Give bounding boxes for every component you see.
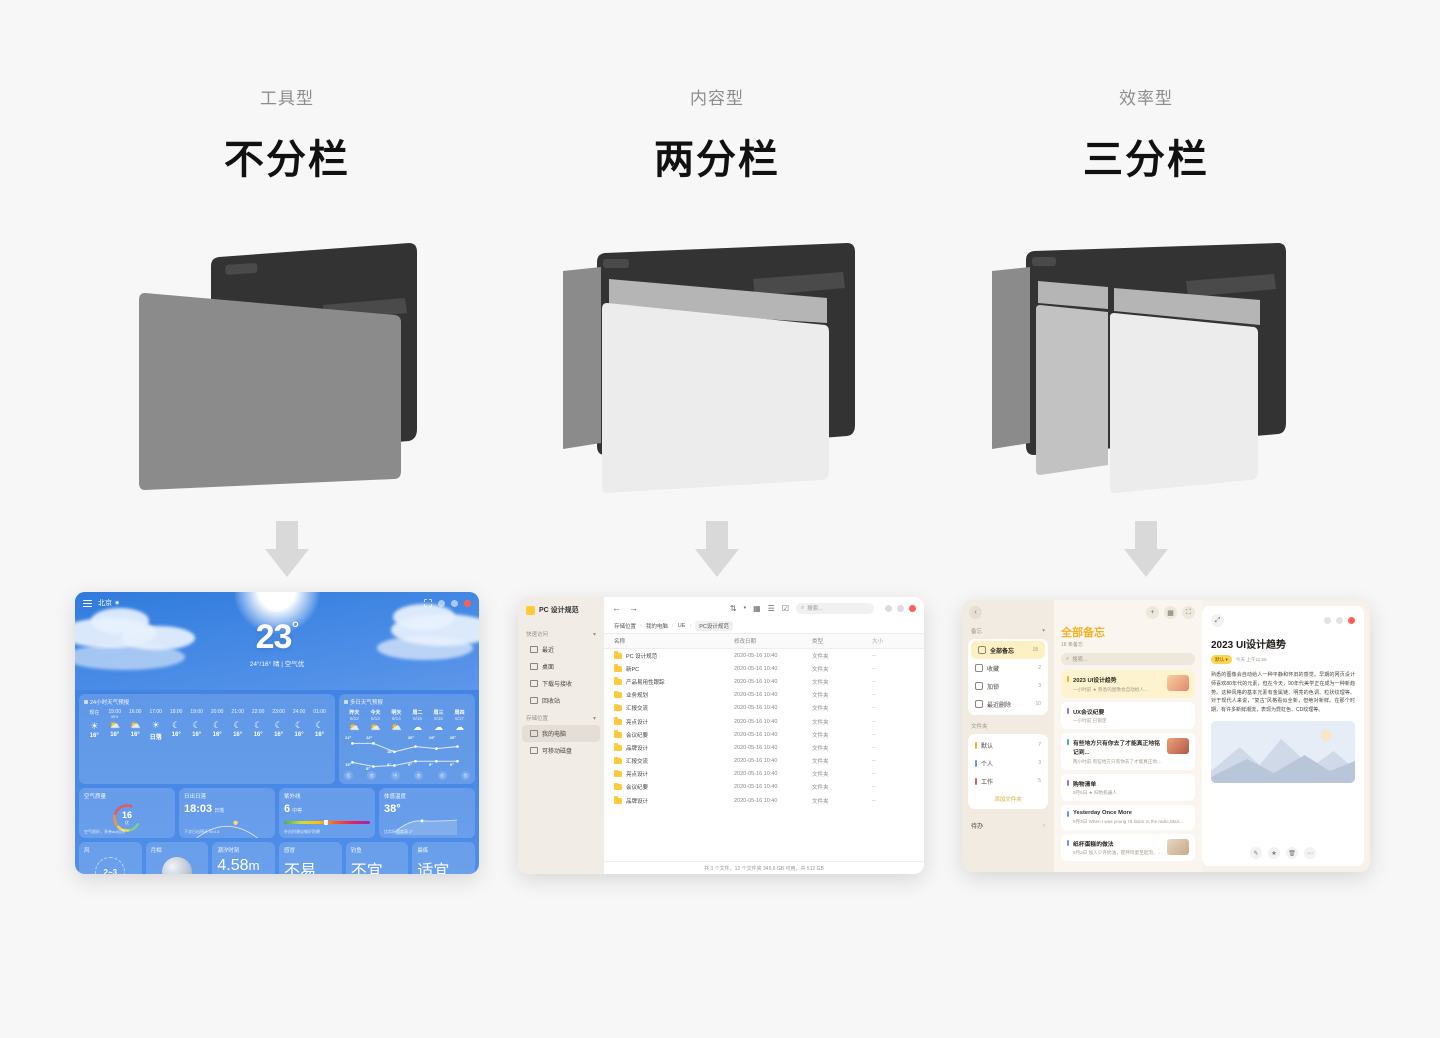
weather-card-moon[interactable]: 月相	[146, 842, 209, 874]
column-two-pane: 内容型 两分栏 PC 设计规范 快速访问▾最近桌面下载与接收回收站存储位置▾我的…	[477, 0, 957, 1038]
refresh-icon[interactable]	[1324, 617, 1331, 624]
file-toolbar-actions[interactable]: ⇅ ▾ ▦ ☰ ☑ ⌕ 搜索...	[730, 603, 916, 614]
daily-item: 今天6/13⛅	[365, 709, 386, 733]
file-status-bar: 共 3 个文件，12 个文件夹 345.6 GB 可用，共 512 GB	[604, 861, 924, 874]
cell-name: 品牌设计	[614, 797, 734, 805]
day-low: 8°	[387, 762, 391, 767]
sidebar-item-可移动磁盘[interactable]: 可移动磁盘	[522, 742, 600, 759]
metric-title: 紫外线	[284, 792, 370, 800]
hour-temp: 16°	[186, 732, 206, 738]
note-item-title: 有些地方只有你去了才能真正地铭记到...	[1073, 738, 1163, 756]
daily-item: 昨天6/12⛅	[344, 709, 365, 733]
day-date: 6/17	[449, 716, 470, 721]
table-row[interactable]: 业务规划2020-05-16 10:40文件夹--	[604, 689, 924, 702]
weather-card-tide[interactable]: 潮汐时刻4.58m	[212, 842, 275, 874]
chevron-down-icon[interactable]: ▾	[593, 715, 596, 722]
breadcrumb-item[interactable]: 我的电脑	[646, 622, 668, 630]
daily-aqi-row: 优良中良优优	[344, 771, 470, 780]
aqi-value: 16	[122, 810, 132, 820]
sidebar-item-label: 全部备忘	[990, 646, 1014, 655]
hour-precip	[309, 715, 329, 719]
cell-date: 2020-05-16 10:40	[734, 758, 812, 764]
list-view-icon[interactable]: ☰	[768, 604, 775, 613]
cell-type: 文件夹	[812, 678, 872, 686]
daily-forecast-card[interactable]: 多日天气预报 昨天6/12⛅今天6/13⛅明天6/14⛅周二6/15☁周三6/1…	[339, 694, 475, 784]
hour-temp: 16°	[84, 733, 104, 739]
file-sidebar-groups: 快速访问▾最近桌面下载与接收回收站存储位置▾我的电脑可移动磁盘	[518, 625, 604, 759]
notes-list-title: 全部备忘	[1061, 624, 1195, 640]
day-aqi: 优	[461, 771, 470, 780]
cell-name: 会议纪要	[614, 783, 734, 791]
column-header-type[interactable]: 类型	[812, 637, 872, 645]
weather-app-window[interactable]: 北京 ◉ 23° 24°/16° 晴 | 空气优 24小时天气预报	[75, 592, 479, 874]
cell-date: 2020-05-16 10:40	[734, 745, 812, 751]
sidebar-item-label: 最近删除	[987, 700, 1011, 709]
breadcrumb-item[interactable]: PC设计规范	[695, 621, 733, 631]
day-name: 周二	[407, 709, 428, 716]
sidebar-group[interactable]: 存储位置▾	[518, 709, 604, 725]
arrow-down-3	[906, 521, 1386, 591]
download-icon	[530, 680, 538, 687]
card-title: 风	[84, 846, 137, 854]
notes-folders-title: 文件夹	[962, 722, 1054, 734]
notes-list-pane[interactable]: + ▦ ⛶ 全部备忘 18 条备忘 ⌕ 搜索... 2023 UI设计趋势一小时…	[1054, 600, 1202, 872]
folder-icon	[614, 679, 622, 685]
day-high: 22°	[345, 735, 351, 740]
table-row[interactable]: 汇报交流2020-05-16 10:40文件夹--	[604, 755, 924, 768]
hour-temp: 16°	[309, 732, 329, 738]
weather-icon: ☁	[407, 721, 428, 733]
note-detail-pane[interactable]: ⤢ 2023 UI设计趋势 默认 ▾ 今天 上午11:56 熟悉的图像会自动给人…	[1202, 606, 1364, 866]
folder-item-个人[interactable]: 个人3	[968, 754, 1048, 772]
chevron-down-icon[interactable]: ▾	[744, 605, 747, 611]
note-item-meta: 9月3日 When I was young I'd listen to the …	[1073, 819, 1189, 825]
weather-titlebar[interactable]: 北京 ◉	[75, 592, 479, 614]
sidebar-item-下载与接收[interactable]: 下载与接收	[522, 675, 600, 692]
list-item[interactable]: 2023 UI设计趋势一小时前 ★ 熟悉的图像会自动给人...	[1061, 670, 1195, 698]
hour-precip: 65%	[104, 715, 124, 719]
folder-icon	[614, 653, 622, 659]
metric-title: 体感温度	[384, 792, 470, 800]
note-image[interactable]	[1211, 721, 1355, 783]
moon-phase-icon	[162, 857, 192, 874]
sidebar-item-全部备忘[interactable]: 全部备忘18	[971, 641, 1045, 659]
chevron-down-icon[interactable]: ▾	[1042, 628, 1045, 634]
grid-view-icon[interactable]: ▦	[1164, 606, 1177, 619]
weather-card-advise[interactable]: 感冒不易	[279, 842, 342, 874]
calendar-icon	[344, 700, 348, 704]
daily-item: 周四6/17☁	[449, 709, 470, 733]
day-low: 15°	[345, 762, 351, 767]
list-item[interactable]: Yesterday Once More9月3日 When I was young…	[1061, 805, 1195, 830]
window-controls[interactable]	[424, 599, 471, 607]
note-toolbar[interactable]: ✎ ★ 🗑 ⋯	[1202, 847, 1364, 859]
weather-city[interactable]: 北京 ◉	[98, 598, 119, 608]
file-table-body[interactable]: PC 设计规范2020-05-16 10:40文件夹--新PC2020-05-1…	[604, 649, 924, 861]
day-name: 昨天	[344, 709, 365, 716]
cell-date: 2020-05-16 10:40	[734, 679, 812, 685]
sidebar-item-label: 回收站	[542, 696, 560, 705]
cell-type: 文件夹	[812, 665, 872, 673]
search-placeholder: 搜索...	[807, 604, 823, 612]
more-icon[interactable]: ⋯	[1304, 847, 1316, 859]
item-count: 7	[1038, 742, 1041, 748]
notes-app-window[interactable]: ‹ 备忘 ▾ 全部备忘18收藏2加锁3最近删除10 文件夹 默认7个人3工作5 …	[962, 600, 1370, 872]
folder-icon	[614, 771, 622, 777]
table-row[interactable]: 会议纪要2020-05-16 10:40文件夹--	[604, 728, 924, 741]
notes-list-actions[interactable]: + ▦ ⛶	[1061, 606, 1195, 619]
iso-two-svg	[557, 243, 877, 503]
cell-date: 2020-05-16 10:40	[734, 798, 812, 804]
weather-card-advise[interactable]: 钓鱼不宜	[346, 842, 409, 874]
item-count: 3	[1038, 760, 1041, 766]
wind-compass: 2~3	[95, 857, 125, 874]
cell-date: 2020-05-16 10:40	[734, 784, 812, 790]
day-aqi: 良	[414, 771, 423, 780]
arrow-down-1	[47, 521, 527, 591]
list-item[interactable]: 购物清单9月5日 ★ 扫地机器人	[1061, 774, 1195, 802]
sidebar-item-桌面[interactable]: 桌面	[522, 658, 600, 675]
day-low: 9°	[450, 762, 454, 767]
forward-icon[interactable]: →	[629, 603, 638, 613]
weather-row-metrics: 空气质量 16 优 空气很好，多亲им自然	[79, 788, 475, 838]
note-category-icon	[978, 646, 986, 654]
weather-icon: ☀	[84, 720, 104, 733]
notes-category-list: 全部备忘18收藏2加锁3最近删除10	[968, 641, 1048, 713]
weather-card-advise[interactable]: 晨练适宜	[412, 842, 475, 874]
daily-list: 昨天6/12⛅今天6/13⛅明天6/14⛅周二6/15☁周三6/16☁周四6/1…	[344, 709, 470, 733]
note-color-bar	[1067, 708, 1069, 714]
column-headline-3: 三分栏	[906, 127, 1386, 185]
chevron-right-icon: ›	[1043, 823, 1045, 829]
hourly-item: 现在 ☀16°	[84, 709, 104, 741]
cell-date: 2020-05-16 10:40	[734, 653, 812, 659]
star-icon[interactable]: ★	[1268, 847, 1280, 859]
back-icon[interactable]: ‹	[969, 606, 982, 619]
item-count: 3	[1038, 683, 1041, 689]
note-category-icon	[975, 682, 983, 690]
folder-icon	[614, 732, 622, 738]
back-icon[interactable]: ←	[612, 603, 621, 613]
column-header-name[interactable]: 名称	[614, 637, 734, 645]
notes-folder-card[interactable]: 默认7个人3工作5 添加文件夹	[968, 734, 1048, 809]
metric-card-air-quality[interactable]: 空气质量 16 优 空气很好，多亲им自然	[79, 788, 175, 838]
day-high: 18°	[387, 749, 393, 754]
day-date: 6/15	[407, 716, 428, 721]
cell-name: 新PC	[614, 665, 734, 673]
weather-row-bottom: 风2~3月相潮汐时刻4.58m感冒不易钓鱼不宜晨练适宜	[79, 842, 475, 874]
hourly-item: 23:00 ☾16°	[268, 709, 288, 741]
note-item-meta: 9月3日 加入少许奶油，搅拌鸡蛋至起泡，打...	[1073, 850, 1163, 856]
iso-single-svg	[127, 243, 447, 503]
day-low: 9°	[429, 762, 433, 767]
close-icon[interactable]	[1348, 617, 1355, 624]
day-aqi: 良	[367, 771, 376, 780]
sort-icon[interactable]: ⇅	[730, 604, 737, 613]
sidebar-item-最近[interactable]: 最近	[522, 641, 600, 658]
sidebar-item-回收站[interactable]: 回收站	[522, 692, 600, 709]
note-item-meta: 一小时前 ★ 熟悉的图像会自动给人...	[1073, 687, 1163, 693]
sidebar-item-收藏[interactable]: 收藏2	[968, 659, 1048, 677]
hourly-item: 21:00 ☾16°	[227, 709, 247, 741]
temperature-trend-chart: 22°15°22°8°18°8°20°9°19°9°20°9°	[344, 735, 470, 769]
cell-date: 2020-05-16 10:40	[734, 692, 812, 698]
card-title: 月相	[151, 846, 204, 854]
item-count: 5	[1038, 778, 1041, 784]
collapse-icon[interactable]: ⤢	[1211, 614, 1224, 627]
hourly-card-title: 24小时天气预报	[84, 698, 330, 706]
hour-label: 现在	[84, 709, 104, 716]
feels-like-value: 38°	[384, 803, 470, 815]
list-item[interactable]: 有些地方只有你去了才能真正地铭记到...两小时前 有些地方只有你去了才能真正地铭…	[1061, 733, 1195, 770]
search-icon: ⌕	[801, 605, 804, 612]
column-single-pane: 工具型 不分栏 北京 ◉	[47, 0, 527, 1038]
table-row[interactable]: PC 设计规范2020-05-16 10:40文件夹--	[604, 649, 924, 662]
note-item-title: UX会议纪要	[1073, 707, 1189, 716]
minimize-icon[interactable]	[897, 605, 904, 612]
hour-temp: 16°	[104, 732, 124, 738]
metric-foot: 空气很好，多亲им自然	[84, 829, 125, 835]
breadcrumb-separator: ›	[689, 623, 691, 629]
card-title: 晨练	[417, 846, 470, 854]
weather-icon: ☾	[248, 719, 268, 732]
day-date: 6/12	[344, 716, 365, 721]
minimize-icon[interactable]	[451, 600, 458, 607]
hour-temp: 日落	[145, 732, 165, 741]
cell-name: 亮点设计	[614, 770, 734, 778]
hourly-item: 16:00 ⛅16°	[125, 709, 145, 741]
hour-temp: 16°	[166, 732, 186, 738]
daily-card-title: 多日天气预报	[344, 698, 470, 706]
weather-icon: ⛅	[344, 721, 365, 733]
advice-value: 不宜	[351, 857, 404, 874]
breadcrumb[interactable]: 存储位置›我的电脑›UE›PC设计规范	[604, 619, 924, 633]
sidebar-group[interactable]: 快速访问▾	[518, 625, 604, 641]
note-color-bar	[1067, 676, 1069, 682]
list-item[interactable]: UX会议纪要一小时前 已锁定	[1061, 702, 1195, 730]
folder-icon	[614, 798, 622, 804]
cell-type: 文件夹	[812, 704, 872, 712]
weather-icon: ☾	[309, 719, 329, 732]
file-search-box[interactable]: ⌕ 搜索...	[796, 603, 874, 614]
cell-name: 会议纪要	[614, 731, 734, 739]
item-count: 10	[1035, 701, 1041, 707]
expand-icon[interactable]: ⛶	[1182, 606, 1195, 619]
table-row[interactable]: 会议纪要2020-05-16 10:40文件夹--	[604, 781, 924, 794]
weather-icon: ⛅	[386, 721, 407, 733]
card-title: 钓鱼	[351, 846, 404, 854]
note-item-meta: 9月5日 ★ 扫地机器人	[1073, 790, 1189, 796]
sidebar-item-label: 加锁	[987, 682, 999, 691]
note-window-controls[interactable]	[1324, 617, 1355, 624]
note-timestamp: 今天 上午11:56	[1236, 657, 1267, 663]
metric-card-feels-like[interactable]: 体感温度 38° 比实际温度高 2°	[379, 788, 475, 838]
weather-icon: ☾	[268, 719, 288, 732]
daily-item: 周三6/16☁	[428, 709, 449, 733]
day-high: 20°	[408, 735, 414, 740]
folder-icon	[614, 705, 622, 711]
cell-date: 2020-05-16 10:40	[734, 705, 812, 711]
cell-date: 2020-05-16 10:40	[734, 771, 812, 777]
table-row[interactable]: 品牌设计2020-05-16 10:40文件夹--	[604, 794, 924, 807]
weather-icon: ☀	[145, 719, 165, 732]
metric-foot: 外出时建议做好防晒	[284, 829, 320, 835]
hour-temp: 16°	[248, 732, 268, 738]
advice-value: 适宜	[417, 857, 470, 874]
close-icon[interactable]	[464, 600, 471, 607]
sidebar-item-加锁[interactable]: 加锁3	[968, 677, 1048, 695]
weather-icon: ☾	[289, 719, 309, 732]
weather-icon: ☾	[207, 719, 227, 732]
metric-card-uv[interactable]: 紫外线 6中等 外出时建议做好防晒	[279, 788, 375, 838]
weather-row-forecast: 24小时天气预报 现在 ☀16°15:0065%⛅16°16:00 ⛅16°17…	[79, 694, 475, 784]
weather-icon: ☾	[166, 719, 186, 732]
hour-temp: 16°	[207, 732, 227, 738]
refresh-icon[interactable]	[438, 600, 445, 607]
metric-card-sunrise-sunset[interactable]: 日出日落 18:03日落 下次日出明天 06:13	[179, 788, 275, 838]
weather-icon: ⛅	[365, 721, 386, 733]
desktop-icon	[530, 663, 538, 670]
add-note-button[interactable]: +	[1146, 606, 1159, 619]
select-icon[interactable]: ☑	[782, 604, 789, 613]
disk-icon	[530, 747, 538, 754]
note-color-bar	[1067, 840, 1069, 846]
daily-item: 明天6/14⛅	[386, 709, 407, 733]
card-title: 潮汐时刻	[217, 846, 270, 854]
notes-group-title: 备忘 ▾	[962, 627, 1054, 639]
file-main: ← → ⇅ ▾ ▦ ☰ ☑ ⌕ 搜索...	[604, 597, 924, 874]
search-placeholder: 搜索...	[1072, 655, 1088, 663]
cell-type: 文件夹	[812, 757, 872, 765]
folder-label: 工作	[981, 777, 993, 786]
note-body-text[interactable]: 熟悉的图像会自动给人一种平静和怀旧的感觉。早期的网页设计师喜欢80年代的元素，但…	[1211, 671, 1355, 715]
day-aqi: 优	[344, 771, 353, 780]
notes-sidebar[interactable]: ‹ 备忘 ▾ 全部备忘18收藏2加锁3最近删除10 文件夹 默认7个人3工作5 …	[962, 600, 1054, 872]
item-count: 18	[1032, 647, 1038, 653]
sidebar-item-label: 下载与接收	[542, 679, 572, 688]
file-sidebar[interactable]: PC 设计规范 快速访问▾最近桌面下载与接收回收站存储位置▾我的电脑可移动磁盘	[518, 597, 604, 874]
table-row[interactable]: 亮点设计2020-05-16 10:40文件夹--	[604, 768, 924, 781]
table-row[interactable]: 新PC2020-05-16 10:40文件夹--	[604, 662, 924, 675]
chevron-down-icon[interactable]: ▾	[593, 631, 596, 638]
weather-icon: ☾	[227, 719, 247, 732]
note-thumbnail	[1167, 738, 1189, 754]
expand-icon[interactable]	[424, 599, 432, 607]
note-detail-topbar[interactable]: ⤢	[1211, 614, 1355, 627]
notes-category-card[interactable]: 全部备忘18收藏2加锁3最近删除10	[968, 639, 1048, 715]
note-item-title: 2023 UI设计趋势	[1073, 675, 1163, 684]
hour-precip	[145, 715, 165, 719]
sidebar-item-我的电脑[interactable]: 我的电脑	[522, 725, 600, 742]
note-item-meta: 一小时前 已锁定	[1073, 718, 1189, 724]
note-meta: 默认 ▾ 今天 上午11:56	[1211, 655, 1355, 664]
illustration-single-pane	[47, 243, 527, 503]
cell-type: 文件夹	[812, 652, 872, 660]
hourly-list: 现在 ☀16°15:0065%⛅16°16:00 ⛅16°17:00 ☀日落18…	[84, 709, 330, 741]
folder-color-bar	[975, 778, 977, 785]
cell-name: 业务规划	[614, 691, 734, 699]
cell-name: 产品易用性跟踪	[614, 678, 734, 686]
table-row[interactable]: 亮点设计2020-05-16 10:40文件夹--	[604, 715, 924, 728]
folder-icon	[614, 719, 622, 725]
breadcrumb-item[interactable]: UE	[678, 623, 686, 629]
notes-folder-list: 默认7个人3工作5	[968, 736, 1048, 790]
weather-icon: ☁	[428, 721, 449, 733]
grid-view-icon[interactable]: ▦	[753, 604, 761, 613]
hourly-forecast-card[interactable]: 24小时天气预报 现在 ☀16°15:0065%⛅16°16:00 ⛅16°17…	[79, 694, 335, 784]
notes-items[interactable]: 2023 UI设计趋势一小时前 ★ 熟悉的图像会自动给人...UX会议纪要一小时…	[1061, 670, 1195, 861]
pen-icon[interactable]: ✎	[1250, 847, 1262, 859]
folder-icon	[614, 692, 622, 698]
weather-card-wind[interactable]: 风2~3	[79, 842, 142, 874]
cell-name: 亮点设计	[614, 718, 734, 726]
metric-title: 空气质量	[84, 792, 170, 800]
folder-label: 默认	[981, 741, 993, 750]
arrow-down-2	[477, 521, 957, 591]
metric-foot: 比实际温度高 2°	[384, 829, 413, 835]
column-headline-2: 两分栏	[477, 127, 957, 185]
current-temperature: 23°	[75, 618, 479, 657]
hour-temp: 16°	[227, 732, 247, 738]
table-row[interactable]: 汇报交流2020-05-16 10:40文件夹--	[604, 702, 924, 715]
day-high: 20°	[450, 735, 456, 740]
aqi-level: 优	[125, 820, 129, 826]
file-app-title: PC 设计规范	[518, 605, 604, 625]
hourly-item: 24:00 ☾16°	[289, 709, 309, 741]
day-high: 19°	[429, 735, 435, 740]
column-three-pane: 效率型 三分栏 ‹ 备忘 ▾ 全部备忘18收藏2加锁3最近删除10	[906, 0, 1386, 1038]
note-category-icon	[975, 700, 983, 708]
breadcrumb-item[interactable]: 存储位置	[614, 622, 636, 630]
illustration-three-pane	[906, 243, 1386, 503]
minimize-icon[interactable]	[1336, 617, 1343, 624]
day-name: 周三	[428, 709, 449, 716]
table-row[interactable]: 产品易用性跟踪2020-05-16 10:40文件夹--	[604, 675, 924, 688]
hour-temp: 16°	[289, 732, 309, 738]
file-toolbar[interactable]: ← → ⇅ ▾ ▦ ☰ ☑ ⌕ 搜索...	[604, 597, 924, 619]
trash-icon[interactable]: 🗑	[1286, 847, 1298, 859]
note-tag-badge[interactable]: 默认 ▾	[1211, 655, 1232, 664]
clock-icon	[530, 646, 538, 653]
cell-type: 文件夹	[812, 691, 872, 699]
file-manager-window[interactable]: PC 设计规范 快速访问▾最近桌面下载与接收回收站存储位置▾我的电脑可移动磁盘 …	[518, 597, 924, 874]
hourly-item: 17:00 ☀日落	[145, 709, 165, 741]
weather-icon: ⛅	[125, 719, 145, 732]
day-name: 今天	[365, 709, 386, 716]
sidebar-item-最近删除[interactable]: 最近删除10	[968, 695, 1048, 713]
menu-icon[interactable]	[83, 600, 92, 607]
refresh-icon[interactable]	[885, 605, 892, 612]
sidebar-item-todo[interactable]: 待办 ›	[962, 815, 1054, 836]
hour-precip	[248, 715, 268, 719]
cell-date: 2020-05-16 10:40	[734, 732, 812, 738]
table-row[interactable]: 品牌设计2020-05-16 10:40文件夹--	[604, 741, 924, 754]
note-item-meta: 两小时前 有些地方只有你去了才能真正地铭...	[1073, 759, 1163, 765]
add-folder-button[interactable]: 添加文件夹	[968, 790, 1048, 807]
illustration-two-pane	[477, 243, 957, 503]
list-item[interactable]: 纸杯蛋糕的做法9月3日 加入少许奶油，搅拌鸡蛋至起泡，打...	[1061, 834, 1195, 862]
sidebar-item-label: 最近	[542, 645, 554, 654]
folder-item-默认[interactable]: 默认7	[968, 736, 1048, 754]
note-item-title: Yesterday Once More	[1073, 810, 1189, 816]
folder-item-工作[interactable]: 工作5	[968, 772, 1048, 790]
weather-current: 23° 24°/16° 晴 | 空气优	[75, 618, 479, 668]
location-icon: ◉	[115, 600, 119, 606]
hour-temp: 16°	[268, 732, 288, 738]
file-table-header[interactable]: 名称 修改日期 类型 大小	[604, 633, 924, 649]
column-header-date[interactable]: 修改日期	[734, 637, 812, 645]
notes-search-box[interactable]: ⌕ 搜索...	[1061, 653, 1195, 665]
